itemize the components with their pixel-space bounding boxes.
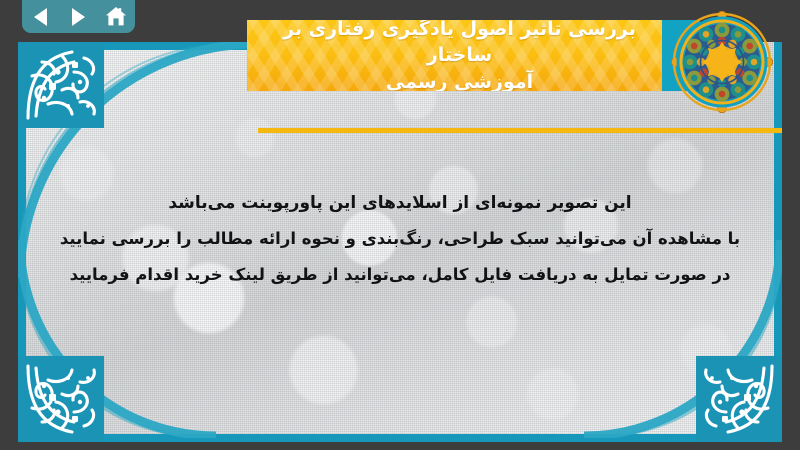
triangle-right-icon	[69, 7, 87, 27]
body-line-1: این تصویر نمونه‌ای از اسلایدهای این پاور…	[44, 185, 756, 221]
persian-mandala-medallion	[671, 11, 773, 113]
next-slide-button[interactable]	[65, 4, 91, 30]
triangle-left-icon	[32, 7, 50, 27]
slide-canvas: این تصویر نمونه‌ای از اسلایدهای این پاور…	[18, 42, 782, 442]
slide-title-banner: بررسی تأثیر اصول یادگیری رفتاری بر ساختا…	[247, 20, 700, 91]
slide-body-text: این تصویر نمونه‌ای از اسلایدهای این پاور…	[44, 137, 756, 293]
arabesque-corner-bottom-right	[696, 356, 782, 442]
slide-border-bottom	[18, 434, 782, 442]
prev-slide-button[interactable]	[28, 4, 54, 30]
home-icon	[105, 6, 127, 27]
home-button[interactable]	[103, 4, 129, 30]
banner-body: بررسی تأثیر اصول یادگیری رفتاری بر ساختا…	[247, 20, 662, 91]
arabesque-corner-bottom-left	[18, 356, 104, 442]
body-line-3: در صورت تمایل به دریافت فایل کامل، می‌تو…	[44, 257, 756, 293]
body-line-2: با مشاهده آن می‌توانید سبک طراحی، رنگ‌بن…	[44, 221, 756, 257]
navigation-bar	[22, 0, 135, 33]
slide-viewer: این تصویر نمونه‌ای از اسلایدهای این پاور…	[0, 0, 800, 450]
arabesque-corner-top-left	[18, 42, 104, 128]
page-title: بررسی تأثیر اصول یادگیری رفتاری بر ساختا…	[247, 20, 662, 91]
title-underline-rule	[258, 128, 782, 133]
